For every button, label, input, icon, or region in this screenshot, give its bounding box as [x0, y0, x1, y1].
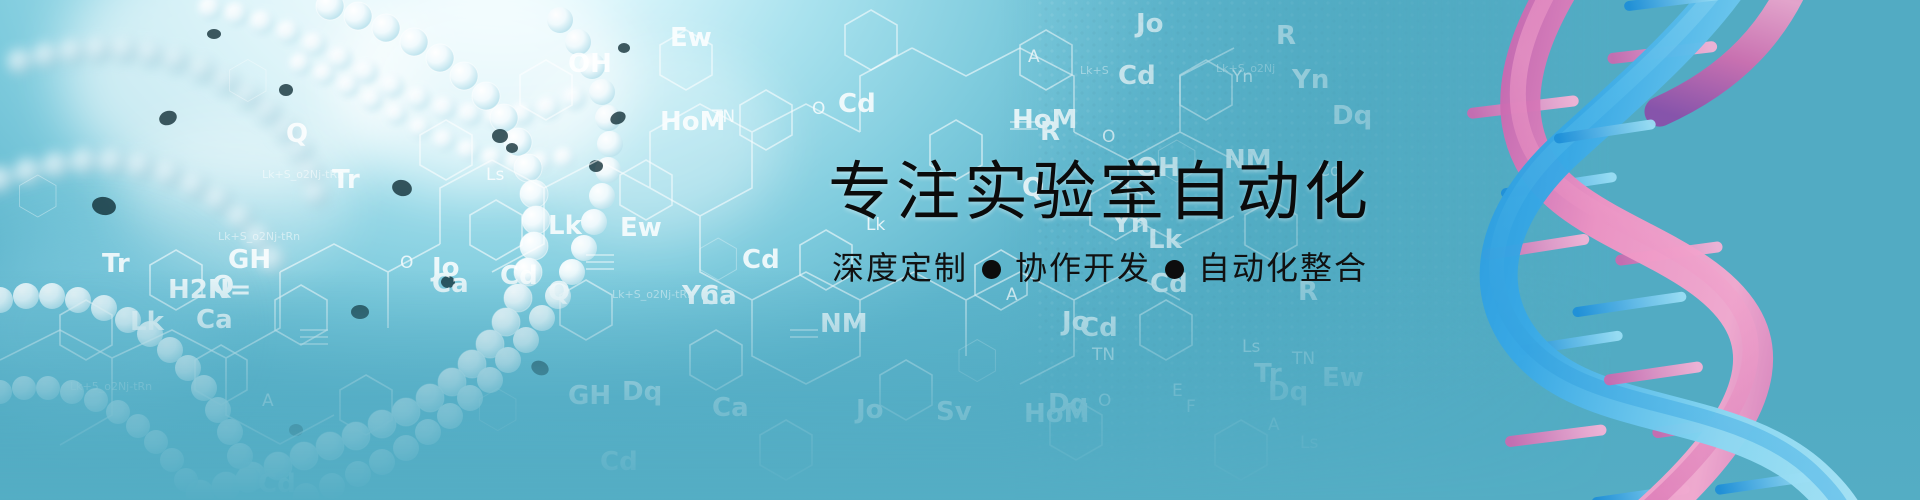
color-dna-helix-decoration: [1370, 0, 1920, 500]
bullet-dot-icon: [982, 260, 1001, 279]
subtitle-segment-1: 深度定制: [832, 249, 968, 287]
hero-text-block: 专注实验室自动化 深度定制 协作开发 自动化整合: [750, 160, 1450, 288]
subtitle-segment-3: 自动化整合: [1198, 249, 1368, 287]
bullet-dot-icon: [1165, 260, 1184, 279]
hero-banner: .l{stroke:#ffffff;stroke-width:1.6;fill:…: [0, 0, 1920, 500]
hero-subtitle: 深度定制 协作开发 自动化整合: [750, 249, 1450, 287]
page-title: 专注实验室自动化: [750, 160, 1450, 227]
subtitle-segment-2: 协作开发: [1015, 249, 1151, 287]
